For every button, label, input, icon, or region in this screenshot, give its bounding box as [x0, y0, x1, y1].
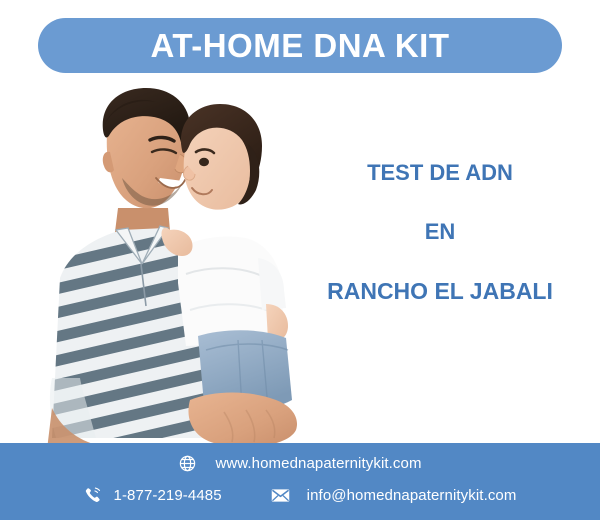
- headline-line-2: EN: [300, 219, 580, 245]
- poster-canvas: AT-HOME DNA KIT: [0, 0, 600, 520]
- family-photo: [0, 78, 330, 458]
- header-title: AT-HOME DNA KIT: [151, 29, 450, 62]
- website-text: www.homednapaternitykit.com: [215, 455, 421, 472]
- website-contact[interactable]: www.homednapaternitykit.com: [178, 454, 421, 473]
- envelope-icon: [270, 485, 291, 506]
- footer-website-row: www.homednapaternitykit.com: [0, 454, 600, 473]
- headline-block: TEST DE ADN EN RANCHO EL JABALI: [300, 160, 580, 305]
- phone-contact[interactable]: 1-877-219-4485: [84, 486, 222, 505]
- headline-line-3: RANCHO EL JABALI: [300, 278, 580, 305]
- footer-bar: www.homednapaternitykit.com 1-877-219-44…: [0, 443, 600, 520]
- footer-contact-row: 1-877-219-4485 info@homednapaternitykit.…: [0, 485, 600, 506]
- headline-line-1: TEST DE ADN: [300, 160, 580, 186]
- email-text: info@homednapaternitykit.com: [307, 487, 517, 504]
- phone-icon: [84, 486, 103, 505]
- header-banner: AT-HOME DNA KIT: [38, 18, 562, 73]
- globe-icon: [178, 454, 197, 473]
- email-contact[interactable]: info@homednapaternitykit.com: [270, 485, 517, 506]
- phone-text: 1-877-219-4485: [114, 487, 222, 504]
- family-photo-illustration: [0, 78, 330, 458]
